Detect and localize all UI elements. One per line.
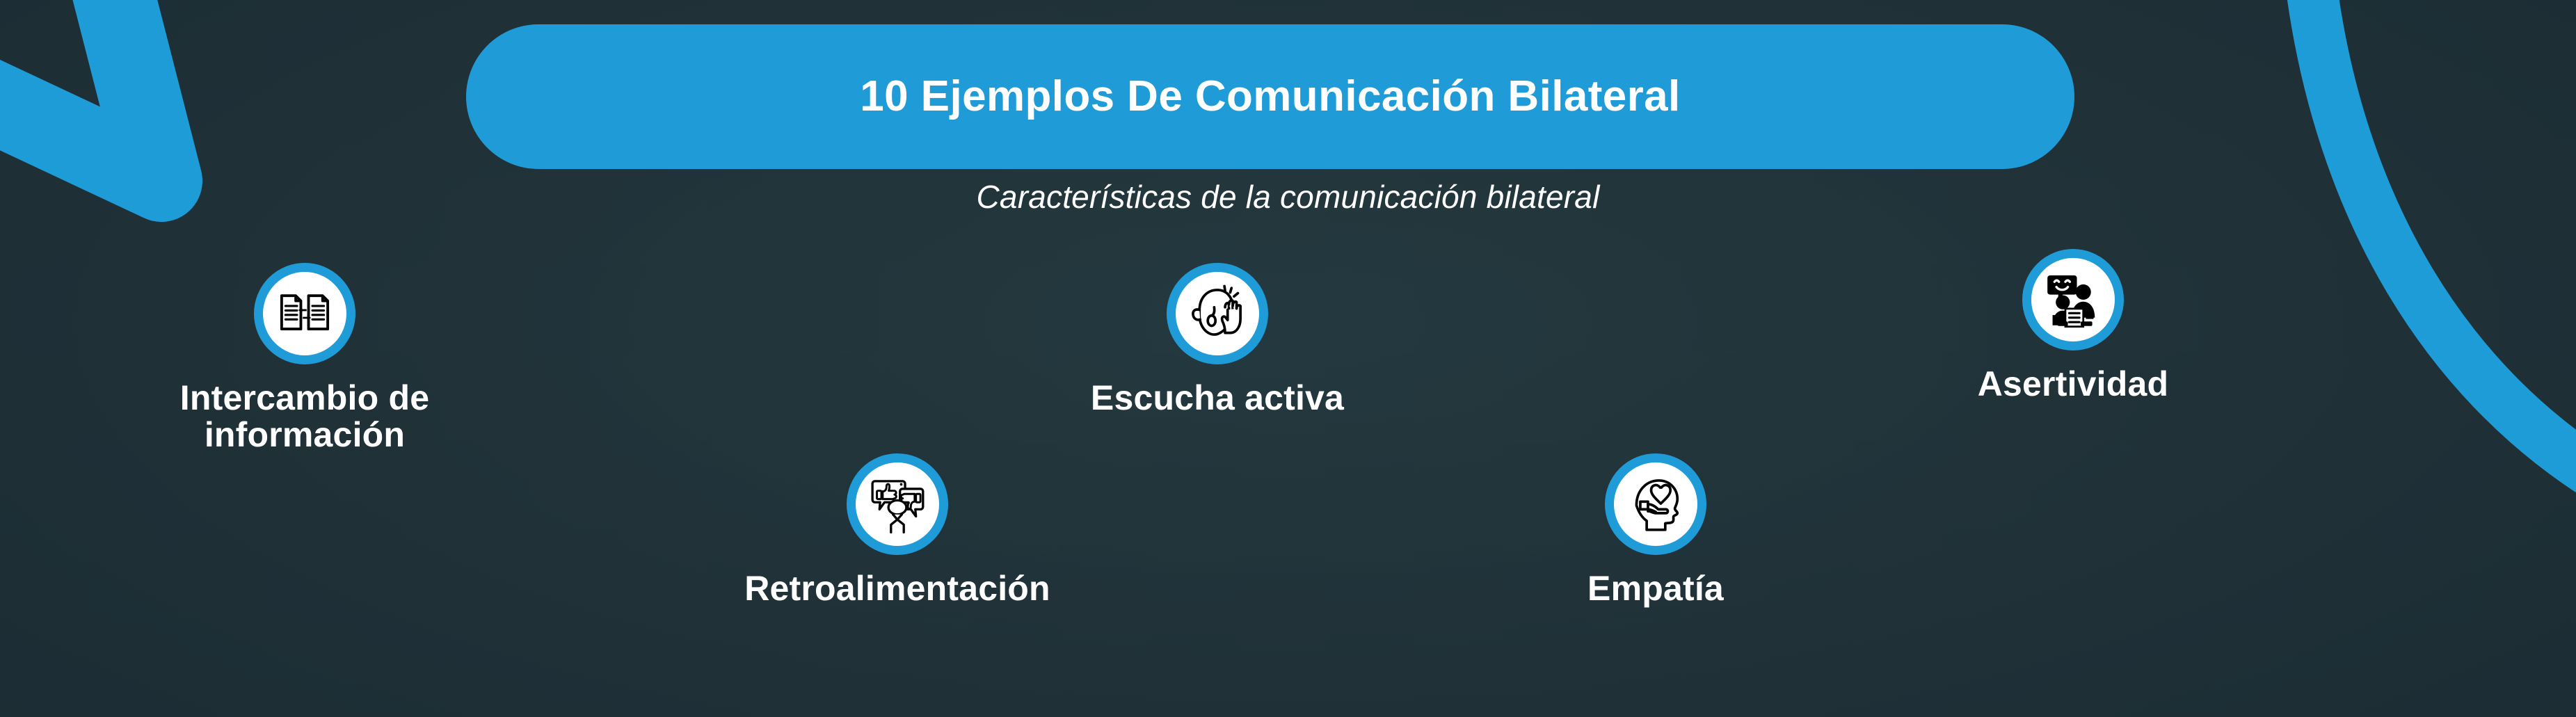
title-banner: 10 Ejemplos De Comunicación Bilateral xyxy=(466,24,2074,169)
icon-bubble xyxy=(254,263,355,364)
feature-item-retroalimentacion[interactable]: Retroalimentación xyxy=(696,453,1099,607)
feature-item-label: Asertividad xyxy=(1978,366,2169,403)
icon-bubble xyxy=(847,453,948,555)
head-heart-hand-icon xyxy=(1624,472,1688,536)
page-subtitle: Características de la comunicación bilat… xyxy=(0,178,2576,216)
two-people-speaking-icon xyxy=(2041,268,2105,332)
ear-listening-icon xyxy=(1185,282,1249,346)
feature-item-label: Empatía xyxy=(1587,570,1724,607)
document-exchange-icon xyxy=(273,282,337,346)
infographic-canvas: 10 Ejemplos De Comunicación Bilateral Ca… xyxy=(0,0,2576,717)
feature-item-label: Retroalimentación xyxy=(744,570,1050,607)
feature-item-intercambio-de-informacion[interactable]: Intercambio de información xyxy=(124,263,486,453)
feature-item-escucha-activa[interactable]: Escucha activa xyxy=(1037,263,1398,417)
feature-item-label: Escucha activa xyxy=(1091,380,1344,417)
icon-bubble xyxy=(1167,263,1268,364)
feedback-thumbs-icon xyxy=(865,472,929,536)
page-title: 10 Ejemplos De Comunicación Bilateral xyxy=(860,75,1680,118)
icon-bubble xyxy=(2022,249,2124,351)
feature-item-label: Intercambio de información xyxy=(180,380,429,453)
feature-item-empatia[interactable]: Empatía xyxy=(1475,453,1837,607)
feature-item-asertividad[interactable]: Asertividad xyxy=(1885,249,2261,403)
icon-bubble xyxy=(1605,453,1706,555)
